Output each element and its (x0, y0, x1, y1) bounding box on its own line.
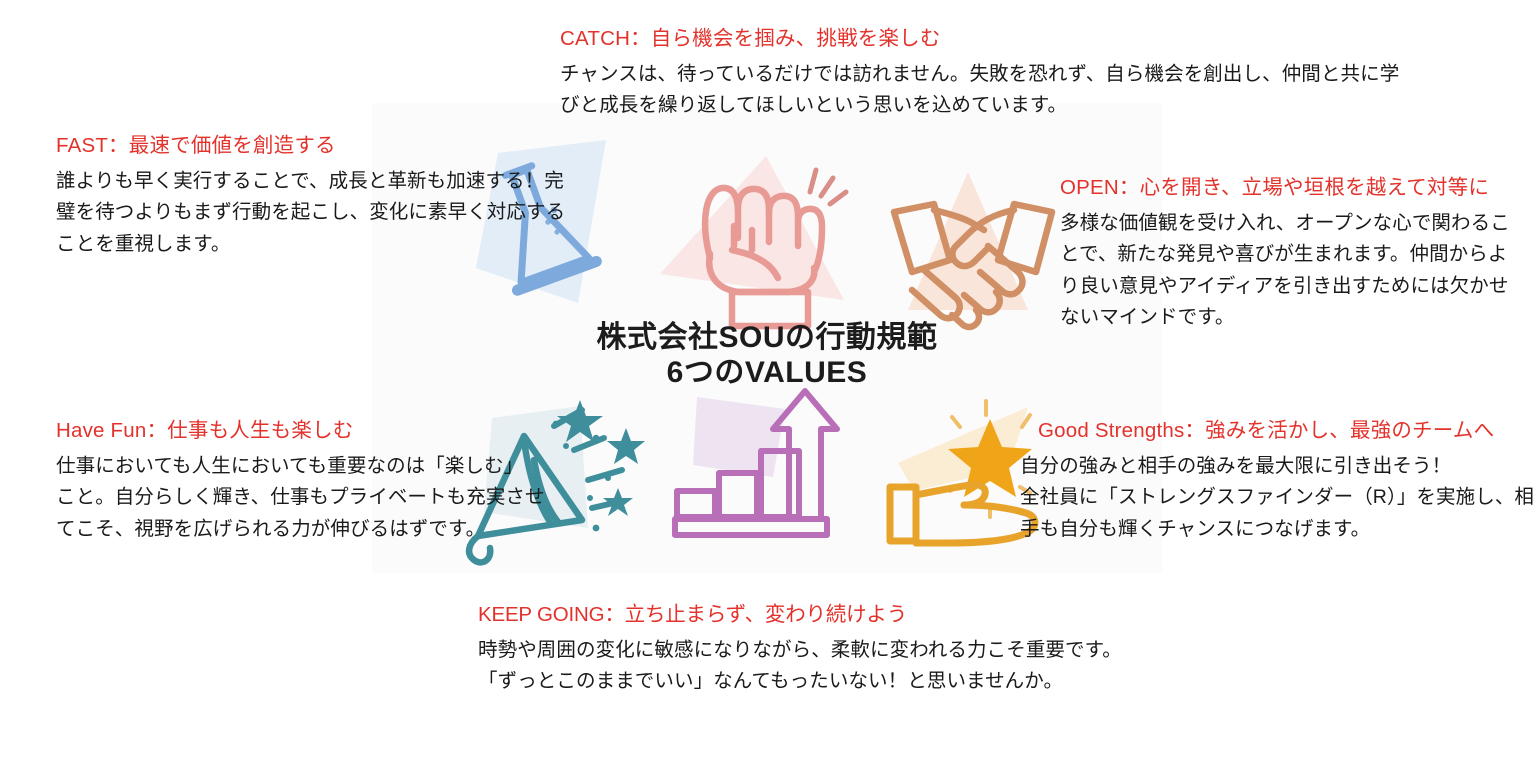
value-body-line: 「ずっとこのままでいい」なんてもったいない！と思いませんか。 (478, 666, 1178, 698)
infographic-canvas: 株式会社SOUの行動規範 6つのVALUES CATCH：自ら機会を掴み、挑戦を… (0, 0, 1536, 765)
value-body-line: ないマインドです。 (1060, 302, 1530, 334)
value-block-fast: FAST：最速で価値を創造する 誰よりも早く実行することで、成長と革新も加速する… (56, 133, 576, 260)
value-body-have-fun: 仕事においても人生においても重要なのは「楽しむ」 こと。自分らしく輝き、仕事もプ… (56, 451, 576, 546)
value-block-catch: CATCH：自ら機会を掴み、挑戦を楽しむ チャンスは、待っているだけでは訪れませ… (560, 26, 1200, 122)
value-body-line: 璧を待つよりもまず行動を起こし、変化に素早く対応する (56, 197, 576, 229)
value-body-line: り良い意見やアイディアを引き出すためには欠かせ (1060, 271, 1530, 303)
value-body-open: 多様な価値観を受け入れ、オープンな心で関わるこ とで、新たな発見や喜びが生まれま… (1060, 208, 1530, 334)
value-body-line: チャンスは、待っているだけでは訪れません。失敗を恐れず、自ら機会を創出し、仲間と… (560, 59, 1200, 91)
value-body-line: びと成長を繰り返してほしいという思いを込めています。 (560, 90, 1200, 122)
value-block-keep-going: KEEP GOING：立ち止まらず、変わり続けよう 時勢や周囲の変化に敏感になり… (478, 602, 1178, 698)
value-body-fast: 誰よりも早く実行することで、成長と革新も加速する！完 璧を待つよりもまず行動を起… (56, 166, 576, 261)
value-body-good-strengths: 自分の強みと相手の強みを最大限に引き出そう！ 全社員に「ストレングスファインダー… (1020, 451, 1528, 546)
value-body-line: 手も自分も輝くチャンスにつなげます。 (1020, 514, 1528, 546)
value-body-line: 自分の強みと相手の強みを最大限に引き出そう！ (1020, 451, 1528, 483)
raised-fist-icon (648, 150, 858, 330)
value-block-have-fun: Have Fun：仕事も人生も楽しむ 仕事においても人生においても重要なのは「楽… (56, 418, 576, 545)
value-body-keep-going: 時勢や周囲の変化に敏感になりながら、柔軟に変われる力こそ重要です。 「ずっとこの… (478, 635, 1178, 698)
value-title-keep-going: KEEP GOING：立ち止まらず、変わり続けよう (478, 602, 1178, 628)
value-title-fast: FAST：最速で価値を創造する (56, 133, 576, 159)
value-body-catch: チャンスは、待っているだけでは訪れません。失敗を恐れず、自ら機会を創出し、仲間と… (560, 59, 1200, 122)
value-block-good-strengths: Good Strengths：強みを活かし、最強のチームへ 自分の強みと相手の強… (1038, 418, 1528, 545)
handshake-icon (868, 168, 1078, 338)
value-body-line: 全社員に「ストレングスファインダー（R）」を実施し、相 (1020, 482, 1528, 514)
value-body-line: 誰よりも早く実行することで、成長と革新も加速する！完 (56, 166, 576, 198)
value-body-line: 仕事においても人生においても重要なのは「楽しむ」 (56, 451, 576, 483)
value-body-line: こと。自分らしく輝き、仕事もプライベートも充実させ (56, 482, 576, 514)
value-title-open: OPEN：心を開き、立場や垣根を越えて対等に (1060, 175, 1530, 201)
value-body-line: てこそ、視野を広げられる力が伸びるはずです。 (56, 514, 576, 546)
value-body-line: 多様な価値観を受け入れ、オープンな心で関わるこ (1060, 208, 1530, 240)
value-title-good-strengths: Good Strengths：強みを活かし、最強のチームへ (1038, 418, 1528, 444)
value-body-line: とで、新たな発見や喜びが生まれます。仲間からよ (1060, 239, 1530, 271)
value-title-have-fun: Have Fun：仕事も人生も楽しむ (56, 418, 576, 444)
value-block-open: OPEN：心を開き、立場や垣根を越えて対等に 多様な価値観を受け入れ、オープンな… (1060, 175, 1530, 334)
value-body-line: 時勢や周囲の変化に敏感になりながら、柔軟に変われる力こそ重要です。 (478, 635, 1178, 667)
growth-chart-icon (655, 385, 855, 550)
value-body-line: ことを重視します。 (56, 229, 576, 261)
value-title-catch: CATCH：自ら機会を掴み、挑戦を楽しむ (560, 26, 1200, 52)
